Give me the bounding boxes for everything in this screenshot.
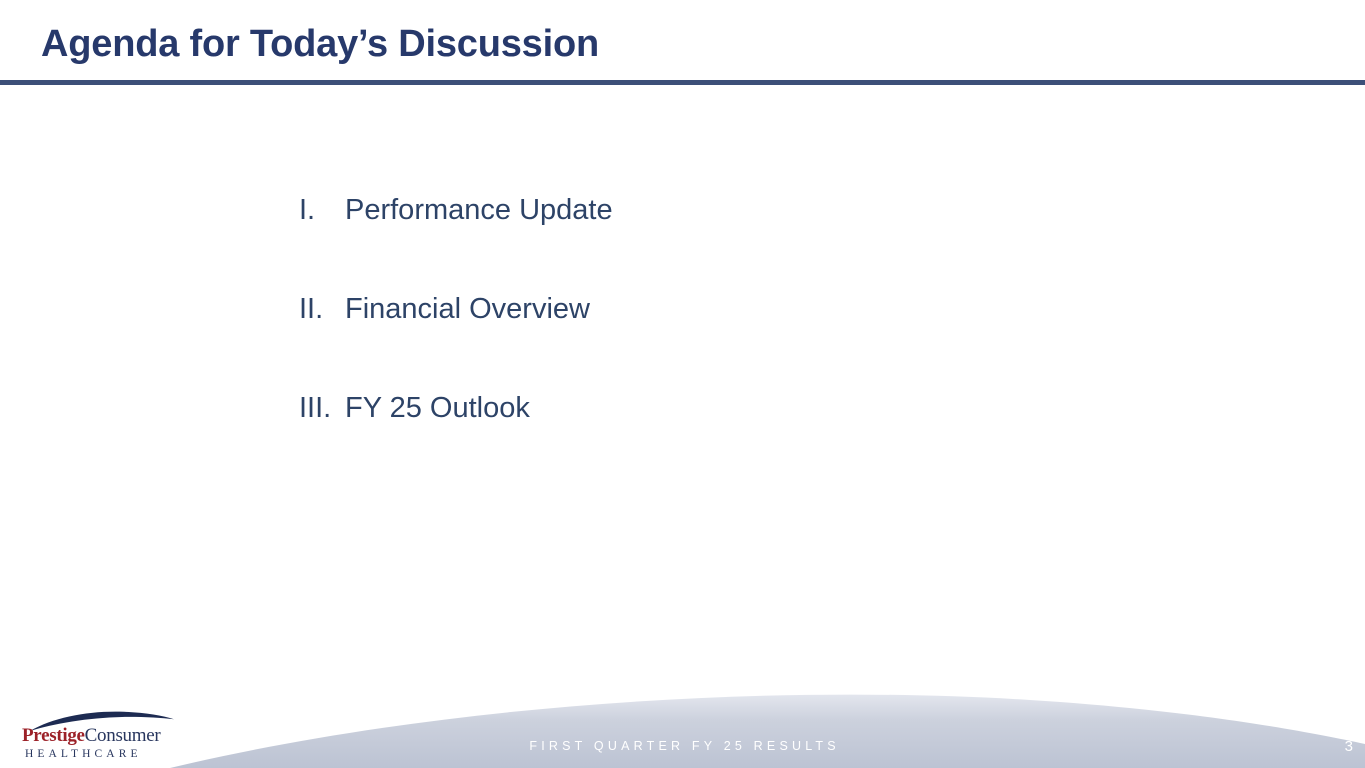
logo-tagline: HEALTHCARE [25,748,142,760]
agenda-item-performance-update: I. Performance Update [299,196,1059,295]
agenda-numeral: I. [299,196,345,225]
agenda-numeral: III. [299,394,345,423]
agenda-item-label: Performance Update [345,196,613,225]
agenda-item-financial-overview: II. Financial Overview [299,295,1059,394]
agenda-numeral: II. [299,295,345,324]
agenda-item-label: Financial Overview [345,295,590,324]
footer-curve-decoration [0,678,1365,768]
logo-secondary-word: Consumer [85,725,161,746]
agenda-list: I. Performance Update II. Financial Over… [299,196,1059,493]
logo-wordmark: PrestigeConsumer [22,726,160,745]
page-title: Agenda for Today’s Discussion [41,24,599,66]
slide-header: Agenda for Today’s Discussion [0,0,1365,84]
company-logo: PrestigeConsumer HEALTHCARE [20,710,180,760]
logo-primary-word: Prestige [22,725,85,746]
agenda-item-label: FY 25 Outlook [345,394,530,423]
page-number: 3 [1345,738,1353,755]
slide-canvas: Agenda for Today’s Discussion I. Perform… [0,0,1365,768]
agenda-item-fy25-outlook: III. FY 25 Outlook [299,394,1059,493]
footer-label: FIRST QUARTER FY 25 RESULTS [0,739,1365,753]
title-divider-rule [0,80,1365,85]
